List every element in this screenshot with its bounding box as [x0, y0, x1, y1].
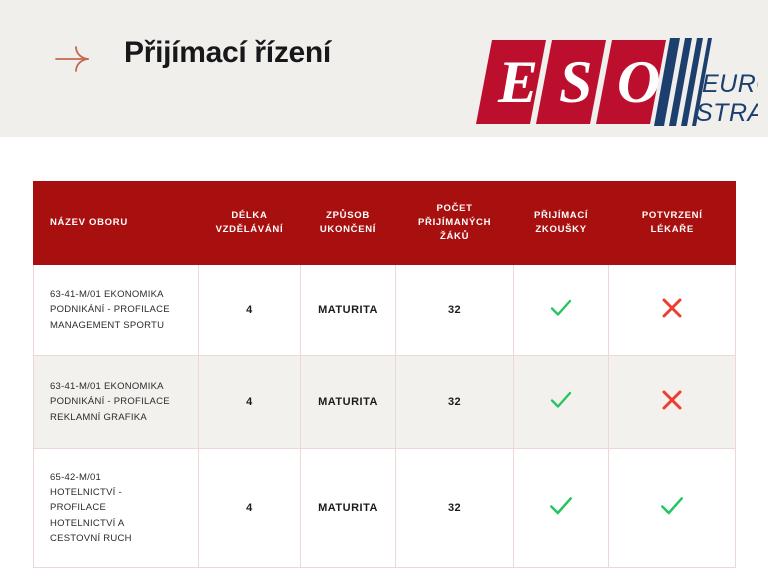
row2-name-line5: CESTOVNÍ RUCH: [50, 533, 132, 544]
header-label-zpusob-1: ZPŮSOB: [326, 210, 370, 221]
header-label-zkousky-2: ZKOUŠKY: [535, 224, 586, 235]
cell-zpusob: MATURITA: [300, 265, 396, 356]
column-header-potvrzeni-lekare: POTVRZENÍ LÉKAŘE: [609, 182, 736, 265]
row2-name-line1: 65-42-M/01: [50, 472, 101, 483]
row1-name-line1: 63-41-M/01 EKONOMIKA: [50, 381, 164, 392]
cell-potvrzeni-lekare: [609, 449, 736, 568]
check-icon: [548, 295, 574, 326]
column-header-nazev-oboru: NÁZEV OBORU: [34, 182, 199, 265]
page-header-band: Přijímací řízení E S O EUROŠKOLA STRAKON…: [0, 0, 768, 137]
row0-name-line1: 63-41-M/01 EKONOMIKA: [50, 289, 164, 300]
cell-potvrzeni-lekare: [609, 356, 736, 449]
table-body: 63-41-M/01 EKONOMIKA PODNIKÁNÍ - PROFILA…: [34, 265, 736, 568]
cell-delka: 4: [199, 356, 300, 449]
header-label-pocet-2: PŘIJÍMANÝCH: [418, 217, 491, 228]
logo-name-line2: STRAKONICE: [696, 99, 758, 127]
header-label-pocet-3: ŽÁKŮ: [440, 231, 469, 242]
cell-zpusob: MATURITA: [300, 449, 396, 568]
header-label-pocet-1: POČET: [436, 203, 472, 214]
cell-nazev-oboru: 63-41-M/01 EKONOMIKA PODNIKÁNÍ - PROFILA…: [34, 356, 199, 449]
column-header-delka-vzdelavani: DÉLKA VZDĚLÁVÁNÍ: [199, 182, 300, 265]
svg-text:O: O: [617, 49, 660, 115]
column-header-zpusob-ukonceni: ZPŮSOB UKONČENÍ: [300, 182, 396, 265]
cell-delka: 4: [199, 265, 300, 356]
row2-name-line2: HOTELNICTVÍ -: [50, 487, 122, 498]
header-label-nazev: NÁZEV OBORU: [50, 217, 128, 228]
cross-icon: [659, 387, 685, 418]
check-icon: [658, 492, 686, 525]
header-label-zpusob-2: UKONČENÍ: [320, 224, 376, 235]
table-row: 63-41-M/01 EKONOMIKA PODNIKÁNÍ - PROFILA…: [34, 265, 736, 356]
header-label-delka-2: VZDĚLÁVÁNÍ: [216, 224, 284, 235]
cell-prijimaci-zkousky: [513, 356, 609, 449]
svg-text:E: E: [497, 49, 538, 115]
row2-name-line3: PROFILACE: [50, 502, 106, 513]
row0-name-line2: PODNIKÁNÍ - PROFILACE: [50, 304, 170, 315]
cross-icon: [659, 295, 685, 326]
header-label-potvrzeni-1: POTVRZENÍ: [642, 210, 703, 221]
cell-nazev-oboru: 63-41-M/01 EKONOMIKA PODNIKÁNÍ - PROFILA…: [34, 265, 199, 356]
table-header-row: NÁZEV OBORU DÉLKA VZDĚLÁVÁNÍ ZPŮSOB UKON…: [34, 182, 736, 265]
column-header-prijimaci-zkousky: PŘIJÍMACÍ ZKOUŠKY: [513, 182, 609, 265]
cell-nazev-oboru: 65-42-M/01 HOTELNICTVÍ - PROFILACE HOTEL…: [34, 449, 199, 568]
header-label-zkousky-1: PŘIJÍMACÍ: [534, 210, 588, 221]
page-title: Přijímací řízení: [124, 36, 331, 70]
row1-name-line3: REKLAMNÍ GRAFIKA: [50, 412, 147, 423]
svg-text:S: S: [559, 49, 592, 115]
header-label-potvrzeni-2: LÉKAŘE: [651, 224, 694, 235]
cell-potvrzeni-lekare: [609, 265, 736, 356]
arrow-right-icon: [52, 44, 96, 74]
header-label-delka-1: DÉLKA: [231, 210, 267, 221]
table-row: 63-41-M/01 EKONOMIKA PODNIKÁNÍ - PROFILA…: [34, 356, 736, 449]
cell-zpusob: MATURITA: [300, 356, 396, 449]
table-row: 65-42-M/01 HOTELNICTVÍ - PROFILACE HOTEL…: [34, 449, 736, 568]
logo-name-line1: EUROŠKOLA: [702, 69, 758, 98]
row2-name-line4: HOTELNICTVÍ A: [50, 518, 125, 529]
cell-delka: 4: [199, 449, 300, 568]
admissions-table: NÁZEV OBORU DÉLKA VZDĚLÁVÁNÍ ZPŮSOB UKON…: [33, 181, 736, 568]
cell-pocet: 32: [396, 265, 513, 356]
row1-name-line2: PODNIKÁNÍ - PROFILACE: [50, 396, 170, 407]
eso-euroskola-logo: E S O EUROŠKOLA STRAKONICE: [474, 36, 758, 128]
column-header-pocet-prijimanych-zaku: POČET PŘIJÍMANÝCH ŽÁKŮ: [396, 182, 513, 265]
check-icon: [547, 492, 575, 525]
check-icon: [548, 387, 574, 418]
cell-prijimaci-zkousky: [513, 449, 609, 568]
row0-name-line3: MANAGEMENT SPORTU: [50, 320, 164, 331]
table-head: NÁZEV OBORU DÉLKA VZDĚLÁVÁNÍ ZPŮSOB UKON…: [34, 182, 736, 265]
cell-pocet: 32: [396, 449, 513, 568]
cell-prijimaci-zkousky: [513, 265, 609, 356]
cell-pocet: 32: [396, 356, 513, 449]
